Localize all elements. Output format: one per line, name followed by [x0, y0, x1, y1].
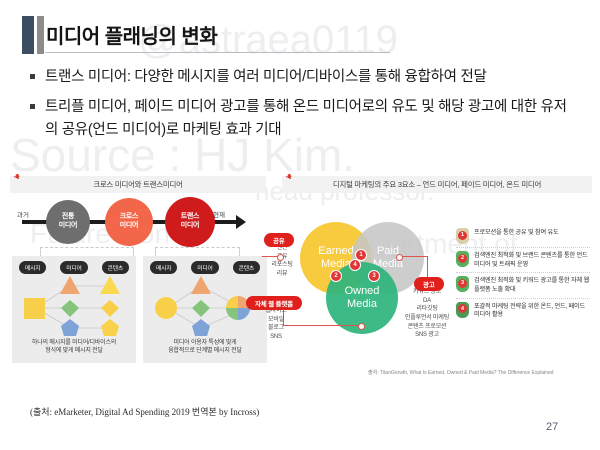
caption-line2: 형식에 맞게 메시지 전달 — [12, 347, 136, 355]
bullet-square-icon — [30, 104, 35, 109]
tag-owned-platform-items: 웹사이트모바일블로그SNS — [248, 307, 304, 342]
shield-badge-icon: 4 — [456, 302, 469, 318]
connector-dot-owned — [358, 323, 365, 330]
right-panel-header: 디지털 마케팅의 주요 3요소 – 언드 미디어, 페이드 미디어, 온드 미디… — [282, 176, 592, 193]
shield-badge-icon: 3 — [456, 276, 469, 292]
strategy-list-item: 4 포괄적 마케팅 전략을 위한 온드, 언드, 페이드 미디어 활용 — [456, 302, 590, 323]
slide-source: (출처: eMarketer, Digital Ad Spending 2019… — [30, 405, 259, 418]
title-bar-gray — [37, 16, 44, 54]
badge-number: 1 — [458, 231, 467, 240]
page-number: 27 — [546, 421, 558, 433]
node-label-line1: 크로스 — [120, 213, 138, 222]
node-label-line2: 미디어 — [181, 222, 199, 231]
tag-advertising: 광고 — [414, 277, 444, 291]
venn-earned-line1: Earned — [318, 245, 353, 257]
slide-canvas: @astraea0119 Source : HJ Kim. head profe… — [0, 0, 600, 450]
strategy-list-text: 프로모션을 통한 공유 및 참여 유도 — [474, 228, 559, 238]
node-label-line1: 트랜스 — [181, 213, 199, 222]
strategy-list-text: 검색엔진 최적화 및 키워드 광고를 통한 자체 웹 플랫폼 노출 확대 — [474, 276, 590, 294]
venn-badge-2: 2 — [330, 270, 342, 282]
timeline-start-label: 과거 — [17, 209, 29, 219]
caption-line1: 하나의 메시지를 미디어/디바이스의 — [12, 339, 136, 347]
bullet-item: 트랜스 미디어: 다양한 메시지를 여러 미디어/디바이스를 통해 융합하여 전… — [30, 66, 575, 88]
venn-badge-4: 4 — [349, 259, 361, 271]
cross-media-pills: 메시지 미디어 콘텐츠 — [12, 261, 136, 274]
shield-badge-icon: 2 — [456, 251, 469, 267]
shield-badge-icon: 1 — [456, 228, 469, 244]
pill-media: 미디어 — [191, 261, 218, 274]
left-panel-header: 크로스 미디어와 트랜스미디어 — [10, 176, 266, 193]
timeline-node-traditional: 전통 미디어 — [46, 200, 90, 244]
timeline-end-label: 현재 — [213, 209, 225, 219]
connector-dot-paid — [396, 254, 403, 261]
badge-number: 3 — [458, 279, 467, 288]
title-divider — [45, 52, 390, 53]
trans-media-pills: 메시지 미디어 콘텐츠 — [143, 261, 267, 274]
bullet-text: 트랜스 미디어: 다양한 메시지를 여러 미디어/디바이스를 통해 융합하여 전… — [45, 66, 487, 88]
pill-contents: 콘텐츠 — [102, 261, 129, 274]
pill-contents: 콘텐츠 — [233, 261, 260, 274]
badge-number: 2 — [458, 254, 467, 263]
pushpin-icon — [14, 174, 21, 181]
title-bar-dark — [22, 16, 34, 54]
strategy-list-text: 검색엔진 최적화 및 브랜드 콘텐츠를 통한 언드 미디어 및 트래픽 운영 — [474, 251, 590, 269]
venn-owned-line2: Media — [347, 298, 377, 310]
bullet-text: 트리플 미디어, 페이드 미디어 광고를 통해 온드 미디어로의 유도 및 해당… — [45, 96, 575, 141]
node-label-line2: 미디어 — [120, 222, 138, 231]
venn-label-owned: Owned Media — [345, 285, 380, 310]
timeline-arrowhead-icon — [236, 215, 246, 229]
tag-share: 공유 — [264, 233, 294, 247]
page-title: 미디어 플래닝의 변화 — [46, 20, 217, 49]
strategy-list-item: 2 검색엔진 최적화 및 브랜드 콘텐츠를 통한 언드 미디어 및 트래픽 운영 — [456, 251, 590, 273]
node-label-line2: 미디어 — [59, 222, 77, 231]
timeline-node-cross: 크로스 미디어 — [105, 198, 153, 246]
cross-media-shape-graph — [12, 272, 136, 338]
strategy-list-text: 포괄적 마케팅 전략을 위한 온드, 언드, 페이드 미디어 활용 — [474, 302, 590, 320]
title-accent-bars — [22, 16, 44, 54]
strategy-list-item: 1 프로모션을 통한 공유 및 참여 유도 — [456, 228, 590, 248]
pill-message: 메시지 — [150, 261, 177, 274]
tag-share-items: 멘션공유리포스팅리뷰 — [262, 244, 302, 279]
strategy-numbered-list: 1 프로모션을 통한 공유 및 참여 유도 2 검색엔진 최적화 및 브랜드 콘… — [456, 228, 590, 326]
tag-advertising-items: 키워드 광고DA리타깃팅인플루언서 마케팅콘텐츠 프로모션SNS 광고 — [396, 288, 458, 340]
caption-line2: 융합적으로 단계별 메시지 전달 — [143, 347, 267, 355]
venn-badge-3: 3 — [368, 270, 380, 282]
bullet-square-icon — [30, 74, 35, 79]
bullet-item: 트리플 미디어, 페이드 미디어 광고를 통해 온드 미디어로의 유도 및 해당… — [30, 96, 575, 141]
pill-message: 메시지 — [19, 261, 46, 274]
cross-media-caption: 하나의 메시지를 미디어/디바이스의 형식에 맞게 메시지 전달 — [12, 339, 136, 356]
pill-media: 미디어 — [60, 261, 87, 274]
strategy-list-item: 3 검색엔진 최적화 및 키워드 광고를 통한 자체 웹 플랫폼 노출 확대 — [456, 276, 590, 298]
bullet-list: 트랜스 미디어: 다양한 메시지를 여러 미디어/디바이스를 통해 융합하여 전… — [30, 66, 575, 149]
venn-owned-line1: Owned — [345, 285, 380, 297]
node-label-line1: 전통 — [62, 213, 74, 222]
connector-line-paid-h — [400, 256, 428, 257]
connector-dot-earned — [277, 254, 284, 261]
pushpin-icon — [286, 174, 293, 181]
timeline-node-trans: 트랜스 미디어 — [165, 197, 215, 247]
tag-owned-platform: 자체 웹 플랫폼 — [246, 296, 302, 310]
right-panel-source: 출처: TitanGrowth, What Is Earned, Owned &… — [368, 369, 553, 376]
